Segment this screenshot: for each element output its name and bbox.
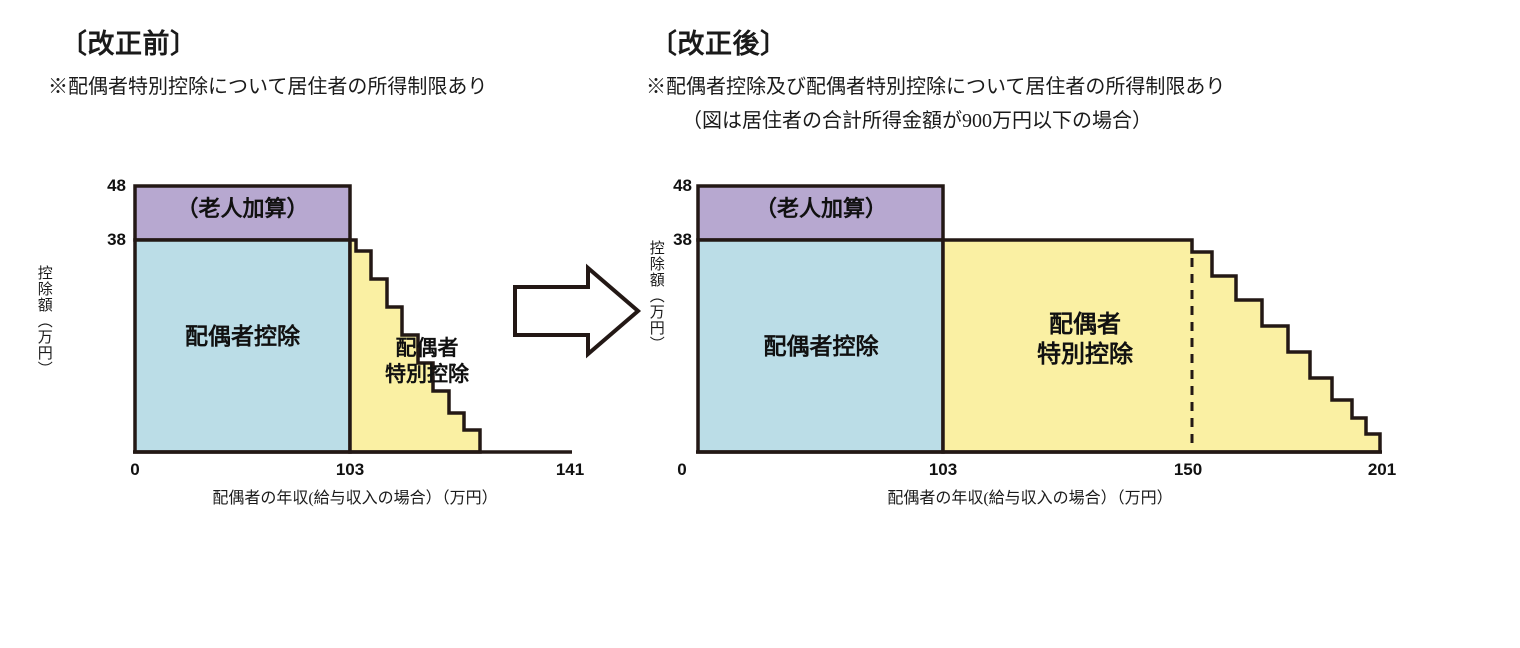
right-arrow-icon	[515, 268, 638, 354]
after-special-deduction-area	[943, 240, 1380, 452]
after-spouse-deduction-block	[698, 240, 943, 452]
chart-after-revision: 控除額（万円） 48 38 0 103 150 201 配偶者の年収(給与収入の…	[640, 0, 1520, 648]
transition-arrow	[510, 262, 650, 362]
after-elderly-addition-block	[698, 186, 943, 240]
before-special-deduction-staircase	[350, 240, 480, 452]
before-spouse-deduction-block	[135, 240, 350, 452]
after-chart-svg	[640, 0, 1520, 648]
before-elderly-addition-block	[135, 186, 350, 240]
panel-after-revision: 〔改正後〕 ※配偶者控除及び配偶者特別控除について居住者の所得制限あり （図は居…	[640, 0, 1520, 648]
